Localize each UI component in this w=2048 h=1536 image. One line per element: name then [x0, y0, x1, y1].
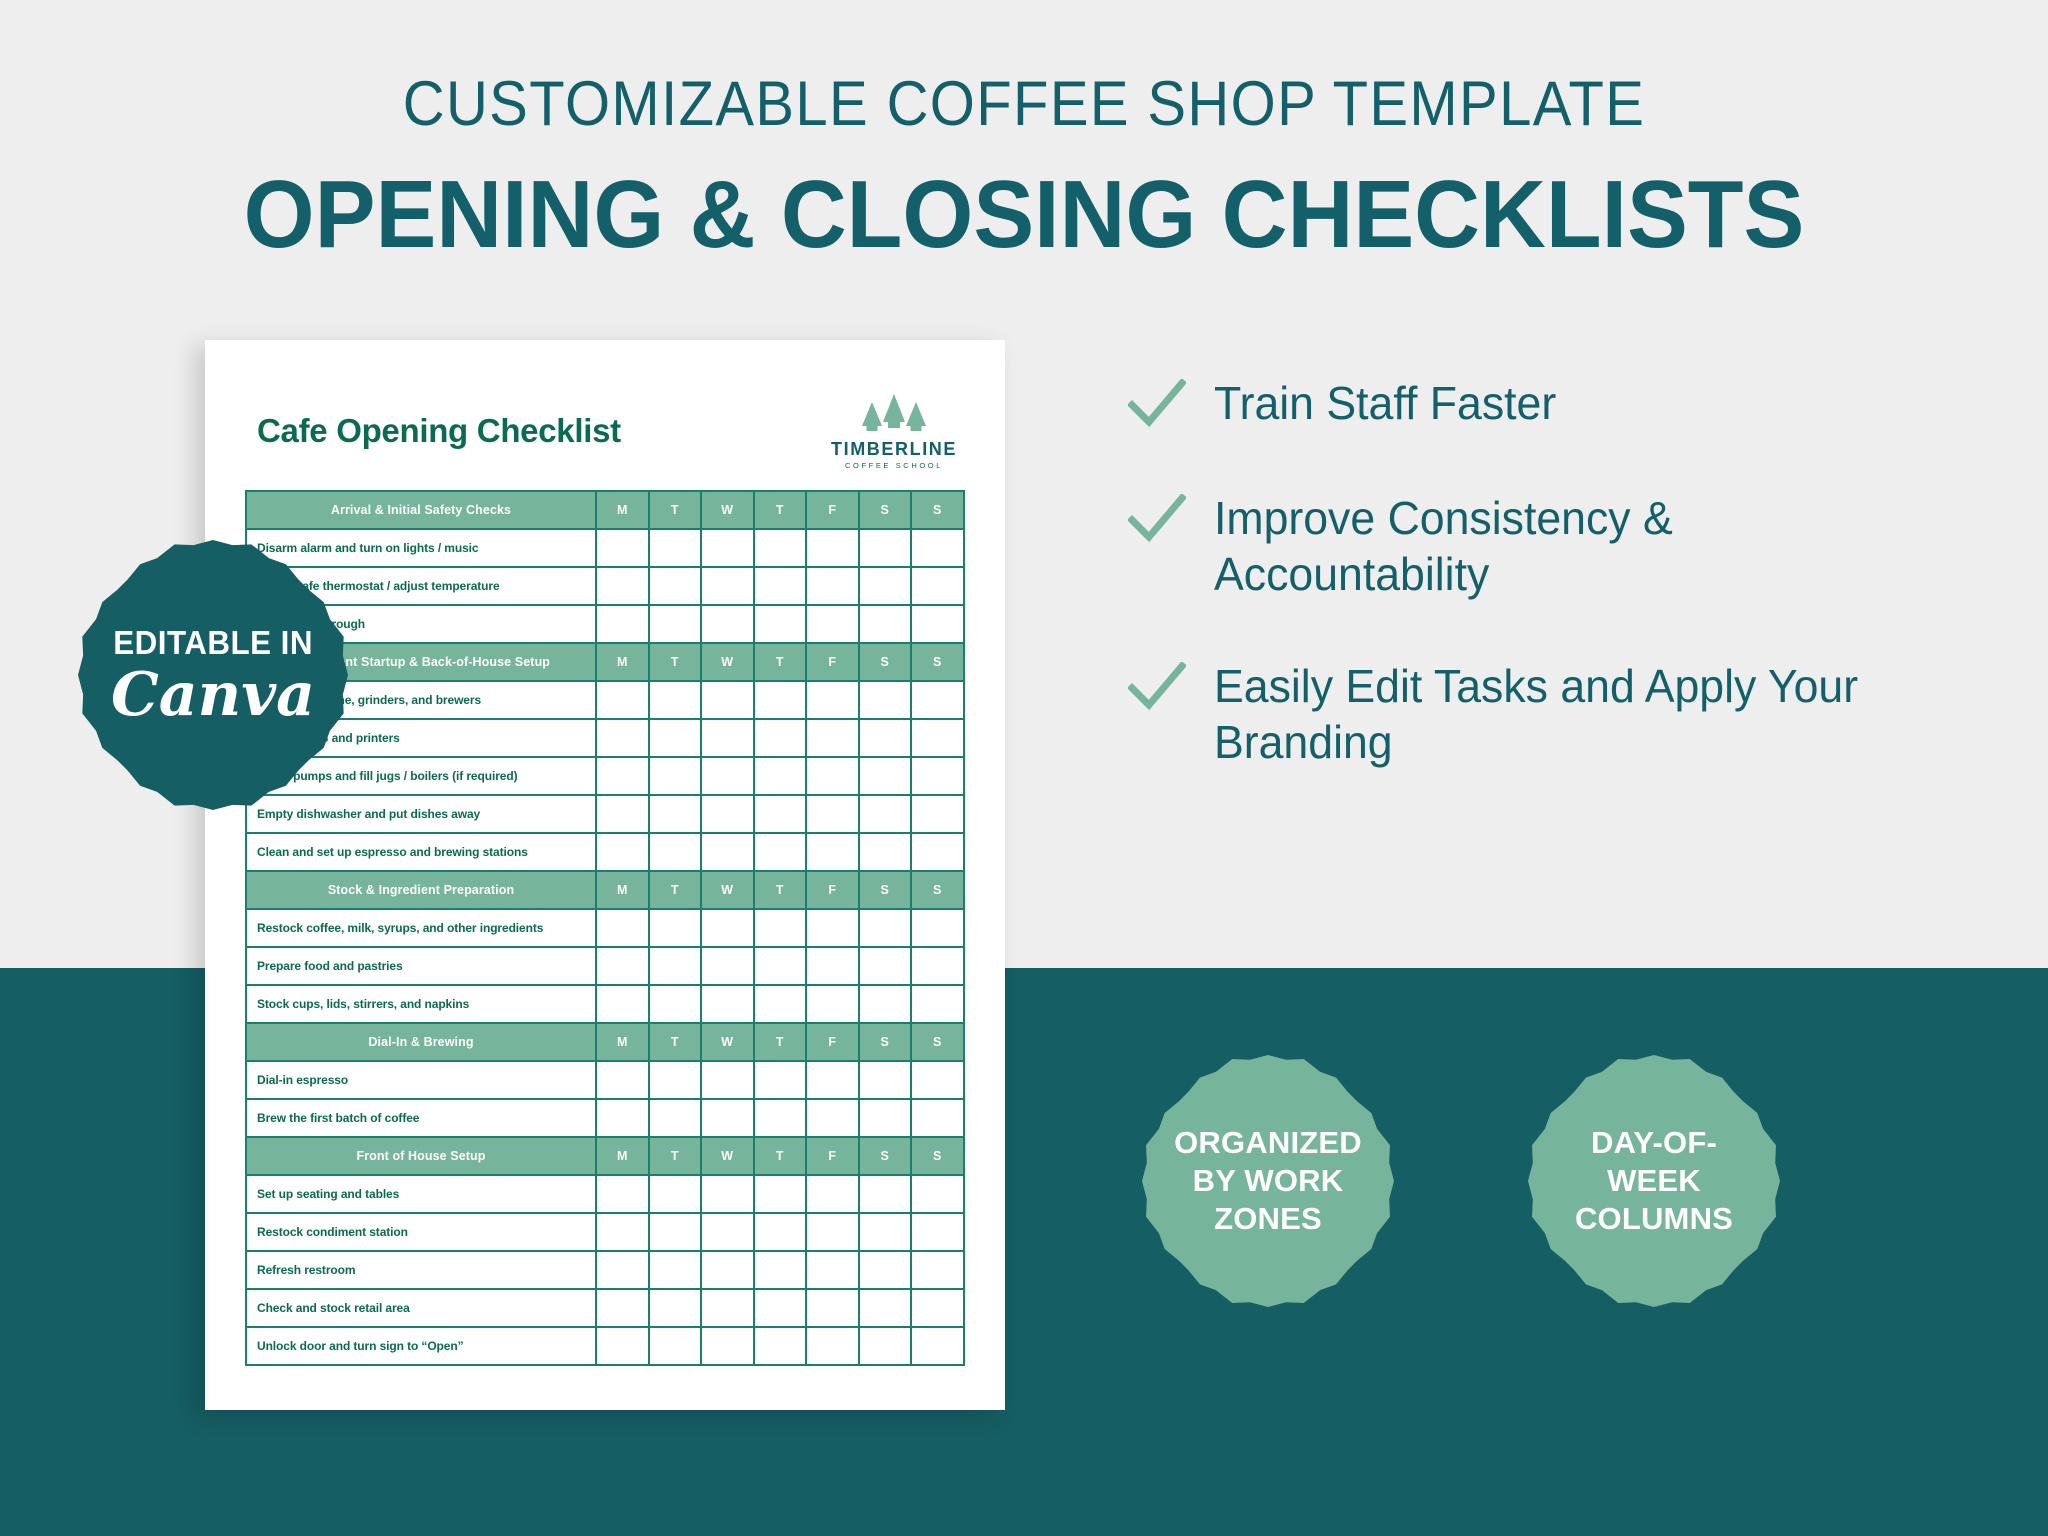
benefit-item: Improve Consistency & Accountability: [1128, 490, 1928, 602]
day-column-header: M: [596, 643, 649, 681]
logo-subtitle: COFFEE SCHOOL: [831, 461, 957, 470]
task-checkbox-cell[interactable]: [911, 757, 964, 795]
benefit-label: Train Staff Faster: [1214, 375, 1556, 431]
day-column-header: F: [806, 491, 859, 529]
task-checkbox-cell[interactable]: [754, 757, 807, 795]
check-icon: [1128, 494, 1186, 549]
task-checkbox-cell[interactable]: [911, 947, 964, 985]
task-checkbox-cell[interactable]: [911, 1251, 964, 1289]
day-column-header: M: [596, 491, 649, 529]
task-checkbox-cell[interactable]: [754, 833, 807, 871]
day-column-header: S: [859, 871, 912, 909]
day-column-header: W: [701, 1023, 754, 1061]
day-column-header: T: [649, 871, 702, 909]
task-checkbox-cell[interactable]: [911, 833, 964, 871]
task-checkbox-cell[interactable]: [806, 1251, 859, 1289]
task-checkbox-cell[interactable]: [754, 1213, 807, 1251]
task-label: Dial-in espresso: [246, 1061, 596, 1099]
page-title: OPENING & CLOSING CHECKLISTS: [51, 160, 1997, 270]
canva-badge-top-line: EDITABLE IN: [113, 624, 313, 662]
task-checkbox-cell[interactable]: [911, 985, 964, 1023]
task-checkbox-cell[interactable]: [596, 795, 649, 833]
task-checkbox-cell[interactable]: [806, 529, 859, 567]
checklist-task-row: Refresh restroom: [246, 1251, 964, 1289]
task-checkbox-cell[interactable]: [649, 1175, 702, 1213]
task-label: Restock condiment station: [246, 1213, 596, 1251]
task-checkbox-cell[interactable]: [859, 757, 912, 795]
checklist-task-row: Dial-in espresso: [246, 1061, 964, 1099]
feature-badge-label: ORGANIZED BY WORK ZONES: [1156, 1124, 1380, 1237]
day-column-header: S: [911, 643, 964, 681]
task-checkbox-cell[interactable]: [754, 719, 807, 757]
task-checkbox-cell[interactable]: [754, 1099, 807, 1137]
day-column-header: W: [701, 1137, 754, 1175]
task-checkbox-cell[interactable]: [806, 947, 859, 985]
task-label: Refresh restroom: [246, 1251, 596, 1289]
task-checkbox-cell[interactable]: [596, 529, 649, 567]
task-checkbox-cell[interactable]: [911, 529, 964, 567]
task-checkbox-cell[interactable]: [596, 1213, 649, 1251]
task-checkbox-cell[interactable]: [701, 833, 754, 871]
day-column-header: T: [754, 871, 807, 909]
day-column-header: M: [596, 1137, 649, 1175]
task-checkbox-cell[interactable]: [596, 605, 649, 643]
task-checkbox-cell[interactable]: [596, 833, 649, 871]
task-checkbox-cell[interactable]: [754, 605, 807, 643]
task-checkbox-cell[interactable]: [911, 567, 964, 605]
task-checkbox-cell[interactable]: [754, 1327, 807, 1365]
task-checkbox-cell[interactable]: [596, 757, 649, 795]
day-column-header: S: [911, 1137, 964, 1175]
task-label: Brew the first batch of coffee: [246, 1099, 596, 1137]
section-title: Arrival & Initial Safety Checks: [246, 491, 596, 529]
task-checkbox-cell[interactable]: [754, 1251, 807, 1289]
task-checkbox-cell[interactable]: [649, 757, 702, 795]
task-checkbox-cell[interactable]: [911, 605, 964, 643]
task-checkbox-cell[interactable]: [754, 681, 807, 719]
task-checkbox-cell[interactable]: [649, 719, 702, 757]
day-column-header: T: [649, 491, 702, 529]
task-checkbox-cell[interactable]: [701, 681, 754, 719]
task-checkbox-cell[interactable]: [911, 1099, 964, 1137]
task-checkbox-cell[interactable]: [859, 1289, 912, 1327]
poster-canvas: CUSTOMIZABLE COFFEE SHOP TEMPLATE OPENIN…: [0, 0, 2048, 1536]
day-column-header: W: [701, 871, 754, 909]
task-checkbox-cell[interactable]: [911, 1327, 964, 1365]
task-checkbox-cell[interactable]: [806, 605, 859, 643]
checklist-task-row: Unlock door and turn sign to “Open”: [246, 1327, 964, 1365]
task-checkbox-cell[interactable]: [911, 795, 964, 833]
checklist-task-row: Check and stock retail area: [246, 1289, 964, 1327]
task-checkbox-cell[interactable]: [806, 681, 859, 719]
task-checkbox-cell[interactable]: [911, 1289, 964, 1327]
task-checkbox-cell[interactable]: [701, 757, 754, 795]
benefits-list: Train Staff FasterImprove Consistency & …: [1128, 375, 1928, 826]
task-checkbox-cell[interactable]: [754, 567, 807, 605]
task-checkbox-cell[interactable]: [859, 567, 912, 605]
section-title: Dial-In & Brewing: [246, 1023, 596, 1061]
task-checkbox-cell[interactable]: [596, 1251, 649, 1289]
task-checkbox-cell[interactable]: [806, 1213, 859, 1251]
task-checkbox-cell[interactable]: [649, 605, 702, 643]
task-checkbox-cell[interactable]: [806, 1061, 859, 1099]
task-checkbox-cell[interactable]: [701, 1327, 754, 1365]
day-column-header: F: [806, 871, 859, 909]
task-checkbox-cell[interactable]: [649, 1327, 702, 1365]
checklist-sheet: Cafe Opening Checklist TIMBERLINE COFFEE…: [205, 340, 1005, 1410]
checklist-section-header: Stock & Ingredient PreparationMTWTFSS: [246, 871, 964, 909]
day-column-header: M: [596, 1023, 649, 1061]
task-checkbox-cell[interactable]: [649, 947, 702, 985]
task-checkbox-cell[interactable]: [701, 605, 754, 643]
day-column-header: S: [911, 491, 964, 529]
checklist-task-row: Check cafe thermostat / adjust temperatu…: [246, 567, 964, 605]
checklist-section-header: Equipment Startup & Back-of-House SetupM…: [246, 643, 964, 681]
section-title: Front of House Setup: [246, 1137, 596, 1175]
day-column-header: F: [806, 643, 859, 681]
task-checkbox-cell[interactable]: [649, 985, 702, 1023]
checklist-task-row: Turn on machine, grinders, and brewers: [246, 681, 964, 719]
checklist-section-header: Dial-In & BrewingMTWTFSS: [246, 1023, 964, 1061]
checklist-task-row: Turn on POS and printers: [246, 719, 964, 757]
task-checkbox-cell[interactable]: [859, 985, 912, 1023]
task-checkbox-cell[interactable]: [911, 681, 964, 719]
canva-badge-word: Canva: [111, 664, 315, 727]
day-column-header: F: [806, 1023, 859, 1061]
benefit-item: Train Staff Faster: [1128, 375, 1928, 434]
day-column-header: W: [701, 643, 754, 681]
day-column-header: S: [911, 1023, 964, 1061]
task-checkbox-cell[interactable]: [806, 757, 859, 795]
day-column-header: S: [859, 643, 912, 681]
task-checkbox-cell[interactable]: [596, 909, 649, 947]
task-checkbox-cell[interactable]: [754, 1061, 807, 1099]
checklist-task-row: Initial walk-through: [246, 605, 964, 643]
task-label: Disarm alarm and turn on lights / music: [246, 529, 596, 567]
task-checkbox-cell[interactable]: [596, 681, 649, 719]
day-column-header: T: [754, 1137, 807, 1175]
day-column-header: S: [859, 491, 912, 529]
task-label: Prepare food and pastries: [246, 947, 596, 985]
checklist-task-row: Stock cups, lids, stirrers, and napkins: [246, 985, 964, 1023]
task-checkbox-cell[interactable]: [596, 1289, 649, 1327]
task-checkbox-cell[interactable]: [701, 1213, 754, 1251]
checklist-task-row: Set up seating and tables: [246, 1175, 964, 1213]
task-checkbox-cell[interactable]: [649, 529, 702, 567]
task-checkbox-cell[interactable]: [911, 1175, 964, 1213]
task-checkbox-cell[interactable]: [859, 1251, 912, 1289]
task-checkbox-cell[interactable]: [859, 1099, 912, 1137]
task-checkbox-cell[interactable]: [859, 1175, 912, 1213]
day-column-header: T: [649, 1023, 702, 1061]
feature-badge-label: DAY-OF- WEEK COLUMNS: [1557, 1124, 1751, 1237]
checklist-section-header: Front of House SetupMTWTFSS: [246, 1137, 964, 1175]
task-checkbox-cell[interactable]: [911, 1213, 964, 1251]
day-column-header: S: [859, 1137, 912, 1175]
checklist-task-row: Prime pumps and fill jugs / boilers (if …: [246, 757, 964, 795]
task-checkbox-cell[interactable]: [701, 947, 754, 985]
task-checkbox-cell[interactable]: [596, 1327, 649, 1365]
task-checkbox-cell[interactable]: [806, 1289, 859, 1327]
task-checkbox-cell[interactable]: [911, 909, 964, 947]
task-checkbox-cell[interactable]: [859, 833, 912, 871]
task-checkbox-cell[interactable]: [806, 1175, 859, 1213]
task-checkbox-cell[interactable]: [649, 681, 702, 719]
task-checkbox-cell[interactable]: [649, 567, 702, 605]
task-checkbox-cell[interactable]: [754, 947, 807, 985]
day-column-header: M: [596, 871, 649, 909]
task-checkbox-cell[interactable]: [806, 719, 859, 757]
checklist-task-row: Prepare food and pastries: [246, 947, 964, 985]
task-checkbox-cell[interactable]: [754, 985, 807, 1023]
task-checkbox-cell[interactable]: [701, 1061, 754, 1099]
task-checkbox-cell[interactable]: [806, 795, 859, 833]
task-label: Unlock door and turn sign to “Open”: [246, 1327, 596, 1365]
task-checkbox-cell[interactable]: [701, 1251, 754, 1289]
eyebrow-text: CUSTOMIZABLE COFFEE SHOP TEMPLATE: [82, 68, 1966, 140]
task-checkbox-cell[interactable]: [649, 795, 702, 833]
task-label: Clean and set up espresso and brewing st…: [246, 833, 596, 871]
task-checkbox-cell[interactable]: [596, 1061, 649, 1099]
day-column-header: T: [649, 1137, 702, 1175]
task-checkbox-cell[interactable]: [859, 1327, 912, 1365]
checklist-task-row: Brew the first batch of coffee: [246, 1099, 964, 1137]
task-checkbox-cell[interactable]: [701, 529, 754, 567]
day-column-header: T: [649, 643, 702, 681]
task-checkbox-cell[interactable]: [649, 1213, 702, 1251]
task-checkbox-cell[interactable]: [701, 985, 754, 1023]
checklist-title: Cafe Opening Checklist: [257, 412, 621, 450]
task-checkbox-cell[interactable]: [701, 1175, 754, 1213]
task-checkbox-cell[interactable]: [859, 529, 912, 567]
task-checkbox-cell[interactable]: [911, 719, 964, 757]
task-checkbox-cell[interactable]: [754, 529, 807, 567]
day-column-header: W: [701, 491, 754, 529]
checklist-task-row: Clean and set up espresso and brewing st…: [246, 833, 964, 871]
checklist-task-row: Empty dishwasher and put dishes away: [246, 795, 964, 833]
task-checkbox-cell[interactable]: [859, 909, 912, 947]
task-checkbox-cell[interactable]: [859, 1213, 912, 1251]
task-label: Restock coffee, milk, syrups, and other …: [246, 909, 596, 947]
task-checkbox-cell[interactable]: [859, 719, 912, 757]
checklist-section-header: Arrival & Initial Safety ChecksMTWTFSS: [246, 491, 964, 529]
task-checkbox-cell[interactable]: [649, 1061, 702, 1099]
checklist-task-row: Restock coffee, milk, syrups, and other …: [246, 909, 964, 947]
task-checkbox-cell[interactable]: [701, 719, 754, 757]
task-checkbox-cell[interactable]: [806, 833, 859, 871]
day-column-header: S: [911, 871, 964, 909]
checklist-table: Arrival & Initial Safety ChecksMTWTFSSDi…: [245, 490, 965, 1366]
task-checkbox-cell[interactable]: [859, 681, 912, 719]
task-checkbox-cell[interactable]: [859, 947, 912, 985]
check-icon: [1128, 662, 1186, 717]
section-title: Stock & Ingredient Preparation: [246, 871, 596, 909]
day-column-header: T: [754, 643, 807, 681]
task-checkbox-cell[interactable]: [859, 795, 912, 833]
task-checkbox-cell[interactable]: [701, 795, 754, 833]
task-checkbox-cell[interactable]: [701, 1099, 754, 1137]
task-checkbox-cell[interactable]: [649, 1099, 702, 1137]
task-checkbox-cell[interactable]: [596, 1099, 649, 1137]
task-checkbox-cell[interactable]: [596, 947, 649, 985]
check-icon: [1128, 379, 1186, 434]
day-column-header: F: [806, 1137, 859, 1175]
task-checkbox-cell[interactable]: [649, 1251, 702, 1289]
task-checkbox-cell[interactable]: [859, 605, 912, 643]
day-column-header: T: [754, 491, 807, 529]
checklist-task-row: Restock condiment station: [246, 1213, 964, 1251]
task-checkbox-cell[interactable]: [701, 909, 754, 947]
day-column-header: T: [754, 1023, 807, 1061]
task-checkbox-cell[interactable]: [596, 719, 649, 757]
task-checkbox-cell[interactable]: [754, 795, 807, 833]
benefit-label: Easily Edit Tasks and Apply Your Brandin…: [1214, 658, 1907, 770]
task-checkbox-cell[interactable]: [806, 985, 859, 1023]
task-checkbox-cell[interactable]: [911, 1061, 964, 1099]
checklist-task-row: Disarm alarm and turn on lights / music: [246, 529, 964, 567]
task-checkbox-cell[interactable]: [649, 833, 702, 871]
task-checkbox-cell[interactable]: [649, 909, 702, 947]
task-checkbox-cell[interactable]: [596, 985, 649, 1023]
task-label: Empty dishwasher and put dishes away: [246, 795, 596, 833]
task-checkbox-cell[interactable]: [754, 1289, 807, 1327]
sheet-header: Cafe Opening Checklist TIMBERLINE COFFEE…: [205, 340, 1005, 470]
task-checkbox-cell[interactable]: [806, 567, 859, 605]
task-checkbox-cell[interactable]: [701, 1289, 754, 1327]
task-checkbox-cell[interactable]: [806, 909, 859, 947]
task-checkbox-cell[interactable]: [754, 1175, 807, 1213]
task-checkbox-cell[interactable]: [806, 1327, 859, 1365]
task-label: Set up seating and tables: [246, 1175, 596, 1213]
benefit-item: Easily Edit Tasks and Apply Your Brandin…: [1128, 658, 1928, 770]
task-checkbox-cell[interactable]: [596, 567, 649, 605]
benefit-label: Improve Consistency & Accountability: [1214, 490, 1907, 602]
timberline-logo: TIMBERLINE COFFEE SCHOOL: [831, 392, 957, 470]
task-checkbox-cell[interactable]: [701, 567, 754, 605]
task-checkbox-cell[interactable]: [754, 909, 807, 947]
task-checkbox-cell[interactable]: [859, 1061, 912, 1099]
task-checkbox-cell[interactable]: [649, 1289, 702, 1327]
task-checkbox-cell[interactable]: [806, 1099, 859, 1137]
day-column-header: S: [859, 1023, 912, 1061]
pine-trees-icon: [851, 392, 937, 436]
task-label: Check and stock retail area: [246, 1289, 596, 1327]
task-label: Stock cups, lids, stirrers, and napkins: [246, 985, 596, 1023]
task-checkbox-cell[interactable]: [596, 1175, 649, 1213]
logo-name: TIMBERLINE: [831, 440, 957, 458]
